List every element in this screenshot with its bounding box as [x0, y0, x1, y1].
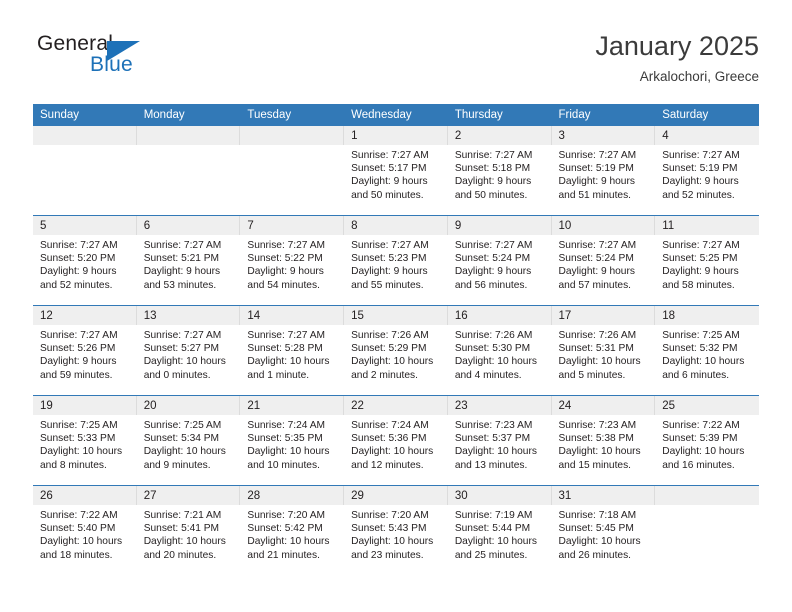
day-number: 19 — [33, 396, 137, 415]
calendar-day-cell[interactable]: 26Sunrise: 7:22 AMSunset: 5:40 PMDayligh… — [33, 486, 137, 576]
calendar-day-cell[interactable]: 14Sunrise: 7:27 AMSunset: 5:28 PMDayligh… — [240, 306, 344, 396]
calendar-day-cell[interactable]: 12Sunrise: 7:27 AMSunset: 5:26 PMDayligh… — [33, 306, 137, 396]
sunrise-time: Sunrise: 7:24 AM — [247, 419, 338, 432]
sunset-time: Sunset: 5:43 PM — [351, 522, 442, 535]
sunrise-time: Sunrise: 7:18 AM — [559, 509, 650, 522]
day-number: 2 — [448, 126, 552, 145]
sunset-time: Sunset: 5:37 PM — [455, 432, 546, 445]
day-number: 7 — [240, 216, 344, 235]
calendar-day-cell[interactable] — [137, 126, 241, 216]
sunset-time: Sunset: 5:44 PM — [455, 522, 546, 535]
sunset-time: Sunset: 5:27 PM — [144, 342, 235, 355]
sunrise-time: Sunrise: 7:26 AM — [455, 329, 546, 342]
calendar-day-cell[interactable]: 10Sunrise: 7:27 AMSunset: 5:24 PMDayligh… — [552, 216, 656, 306]
daylight-duration-line2: and 57 minutes. — [559, 279, 650, 292]
daylight-duration-line2: and 56 minutes. — [455, 279, 546, 292]
calendar-day-cell[interactable]: 7Sunrise: 7:27 AMSunset: 5:22 PMDaylight… — [240, 216, 344, 306]
calendar-day-cell[interactable]: 31Sunrise: 7:18 AMSunset: 5:45 PMDayligh… — [552, 486, 656, 576]
daylight-duration-line1: Daylight: 9 hours — [144, 265, 235, 278]
daylight-duration-line1: Daylight: 9 hours — [559, 265, 650, 278]
calendar-day-cell[interactable]: 3Sunrise: 7:27 AMSunset: 5:19 PMDaylight… — [552, 126, 656, 216]
day-details: Sunrise: 7:20 AMSunset: 5:43 PMDaylight:… — [344, 505, 448, 562]
sunrise-time: Sunrise: 7:27 AM — [144, 329, 235, 342]
day-number: 26 — [33, 486, 137, 505]
daylight-duration-line2: and 10 minutes. — [247, 459, 338, 472]
sunset-time: Sunset: 5:41 PM — [144, 522, 235, 535]
weekday-header-saturday: Saturday — [655, 104, 759, 126]
day-number: 23 — [448, 396, 552, 415]
day-number: 30 — [448, 486, 552, 505]
daylight-duration-line1: Daylight: 9 hours — [455, 265, 546, 278]
calendar-week-row: 5Sunrise: 7:27 AMSunset: 5:20 PMDaylight… — [33, 216, 759, 306]
calendar-day-cell[interactable]: 4Sunrise: 7:27 AMSunset: 5:19 PMDaylight… — [655, 126, 759, 216]
daylight-duration-line2: and 59 minutes. — [40, 369, 131, 382]
sunset-time: Sunset: 5:30 PM — [455, 342, 546, 355]
sunset-time: Sunset: 5:23 PM — [351, 252, 442, 265]
daylight-duration-line1: Daylight: 10 hours — [559, 355, 650, 368]
weekday-header-wednesday: Wednesday — [344, 104, 448, 126]
day-details: Sunrise: 7:27 AMSunset: 5:17 PMDaylight:… — [344, 145, 448, 202]
daylight-duration-line1: Daylight: 9 hours — [40, 355, 131, 368]
day-details: Sunrise: 7:27 AMSunset: 5:26 PMDaylight:… — [33, 325, 137, 382]
day-details: Sunrise: 7:24 AMSunset: 5:36 PMDaylight:… — [344, 415, 448, 472]
day-number: 5 — [33, 216, 137, 235]
daylight-duration-line2: and 18 minutes. — [40, 549, 131, 562]
daylight-duration-line1: Daylight: 10 hours — [455, 445, 546, 458]
daylight-duration-line2: and 51 minutes. — [559, 189, 650, 202]
daylight-duration-line1: Daylight: 10 hours — [351, 445, 442, 458]
calendar-day-cell[interactable]: 25Sunrise: 7:22 AMSunset: 5:39 PMDayligh… — [655, 396, 759, 486]
day-details: Sunrise: 7:27 AMSunset: 5:20 PMDaylight:… — [33, 235, 137, 292]
day-number: 15 — [344, 306, 448, 325]
daylight-duration-line2: and 52 minutes. — [662, 189, 753, 202]
sunset-time: Sunset: 5:29 PM — [351, 342, 442, 355]
calendar-day-cell[interactable]: 16Sunrise: 7:26 AMSunset: 5:30 PMDayligh… — [448, 306, 552, 396]
weekday-header-sunday: Sunday — [33, 104, 137, 126]
daylight-duration-line1: Daylight: 9 hours — [559, 175, 650, 188]
sunrise-time: Sunrise: 7:27 AM — [662, 149, 753, 162]
day-number: 25 — [655, 396, 759, 415]
daylight-duration-line2: and 25 minutes. — [455, 549, 546, 562]
day-number: 20 — [137, 396, 241, 415]
calendar-day-cell[interactable]: 18Sunrise: 7:25 AMSunset: 5:32 PMDayligh… — [655, 306, 759, 396]
day-details: Sunrise: 7:25 AMSunset: 5:34 PMDaylight:… — [137, 415, 241, 472]
sunset-time: Sunset: 5:17 PM — [351, 162, 442, 175]
calendar-day-cell[interactable]: 17Sunrise: 7:26 AMSunset: 5:31 PMDayligh… — [552, 306, 656, 396]
daylight-duration-line2: and 58 minutes. — [662, 279, 753, 292]
sunrise-time: Sunrise: 7:27 AM — [559, 149, 650, 162]
calendar-day-cell[interactable]: 8Sunrise: 7:27 AMSunset: 5:23 PMDaylight… — [344, 216, 448, 306]
calendar-day-cell[interactable]: 29Sunrise: 7:20 AMSunset: 5:43 PMDayligh… — [344, 486, 448, 576]
day-number: 13 — [137, 306, 241, 325]
location-subtitle: Arkalochori, Greece — [595, 69, 759, 85]
weekday-header-thursday: Thursday — [448, 104, 552, 126]
sunrise-time: Sunrise: 7:23 AM — [559, 419, 650, 432]
day-details: Sunrise: 7:27 AMSunset: 5:23 PMDaylight:… — [344, 235, 448, 292]
weekday-header-tuesday: Tuesday — [240, 104, 344, 126]
sunrise-time: Sunrise: 7:26 AM — [559, 329, 650, 342]
day-details: Sunrise: 7:27 AMSunset: 5:27 PMDaylight:… — [137, 325, 241, 382]
day-number: 14 — [240, 306, 344, 325]
daylight-duration-line2: and 15 minutes. — [559, 459, 650, 472]
daylight-duration-line2: and 52 minutes. — [40, 279, 131, 292]
day-number: 6 — [137, 216, 241, 235]
weekday-header-row: Sunday Monday Tuesday Wednesday Thursday… — [33, 104, 759, 126]
day-details: Sunrise: 7:18 AMSunset: 5:45 PMDaylight:… — [552, 505, 656, 562]
day-number: 29 — [344, 486, 448, 505]
calendar-day-cell[interactable]: 23Sunrise: 7:23 AMSunset: 5:37 PMDayligh… — [448, 396, 552, 486]
daylight-duration-line2: and 50 minutes. — [455, 189, 546, 202]
sunset-time: Sunset: 5:25 PM — [662, 252, 753, 265]
calendar-day-cell[interactable]: 13Sunrise: 7:27 AMSunset: 5:27 PMDayligh… — [137, 306, 241, 396]
sunset-time: Sunset: 5:21 PM — [144, 252, 235, 265]
day-details: Sunrise: 7:27 AMSunset: 5:18 PMDaylight:… — [448, 145, 552, 202]
sunrise-time: Sunrise: 7:27 AM — [144, 239, 235, 252]
sunset-time: Sunset: 5:19 PM — [662, 162, 753, 175]
day-number — [33, 126, 137, 145]
sunset-time: Sunset: 5:26 PM — [40, 342, 131, 355]
day-number: 10 — [552, 216, 656, 235]
calendar-day-cell[interactable]: 5Sunrise: 7:27 AMSunset: 5:20 PMDaylight… — [33, 216, 137, 306]
sunset-time: Sunset: 5:20 PM — [40, 252, 131, 265]
daylight-duration-line2: and 4 minutes. — [455, 369, 546, 382]
daylight-duration-line2: and 53 minutes. — [144, 279, 235, 292]
day-number: 18 — [655, 306, 759, 325]
day-number: 9 — [448, 216, 552, 235]
calendar-week-row: 1Sunrise: 7:27 AMSunset: 5:17 PMDaylight… — [33, 126, 759, 216]
daylight-duration-line1: Daylight: 10 hours — [247, 445, 338, 458]
sunset-time: Sunset: 5:38 PM — [559, 432, 650, 445]
sunrise-time: Sunrise: 7:23 AM — [455, 419, 546, 432]
sunset-time: Sunset: 5:36 PM — [351, 432, 442, 445]
daylight-duration-line2: and 23 minutes. — [351, 549, 442, 562]
day-details: Sunrise: 7:25 AMSunset: 5:32 PMDaylight:… — [655, 325, 759, 382]
day-details: Sunrise: 7:22 AMSunset: 5:40 PMDaylight:… — [33, 505, 137, 562]
daylight-duration-line1: Daylight: 10 hours — [455, 535, 546, 548]
sunrise-time: Sunrise: 7:27 AM — [662, 239, 753, 252]
day-details: Sunrise: 7:23 AMSunset: 5:38 PMDaylight:… — [552, 415, 656, 472]
daylight-duration-line1: Daylight: 10 hours — [662, 355, 753, 368]
daylight-duration-line1: Daylight: 10 hours — [247, 355, 338, 368]
sunset-time: Sunset: 5:35 PM — [247, 432, 338, 445]
day-number — [240, 126, 344, 145]
day-details: Sunrise: 7:27 AMSunset: 5:19 PMDaylight:… — [655, 145, 759, 202]
sunset-time: Sunset: 5:31 PM — [559, 342, 650, 355]
sunrise-time: Sunrise: 7:19 AM — [455, 509, 546, 522]
title-block: January 2025 Arkalochori, Greece — [595, 30, 759, 85]
calendar-day-cell[interactable]: 9Sunrise: 7:27 AMSunset: 5:24 PMDaylight… — [448, 216, 552, 306]
daylight-duration-line2: and 50 minutes. — [351, 189, 442, 202]
sunrise-time: Sunrise: 7:25 AM — [662, 329, 753, 342]
day-number: 4 — [655, 126, 759, 145]
daylight-duration-line2: and 5 minutes. — [559, 369, 650, 382]
calendar-day-cell[interactable]: 21Sunrise: 7:24 AMSunset: 5:35 PMDayligh… — [240, 396, 344, 486]
daylight-duration-line1: Daylight: 10 hours — [247, 535, 338, 548]
weekday-header-monday: Monday — [137, 104, 241, 126]
daylight-duration-line2: and 1 minute. — [247, 369, 338, 382]
day-number — [655, 486, 759, 505]
calendar-day-cell[interactable]: 30Sunrise: 7:19 AMSunset: 5:44 PMDayligh… — [448, 486, 552, 576]
daylight-duration-line1: Daylight: 9 hours — [662, 265, 753, 278]
day-number — [137, 126, 241, 145]
calendar-day-cell[interactable] — [33, 126, 137, 216]
calendar-body: 1Sunrise: 7:27 AMSunset: 5:17 PMDaylight… — [33, 126, 759, 575]
daylight-duration-line2: and 26 minutes. — [559, 549, 650, 562]
day-number: 16 — [448, 306, 552, 325]
sunrise-time: Sunrise: 7:25 AM — [144, 419, 235, 432]
daylight-duration-line1: Daylight: 10 hours — [144, 355, 235, 368]
daylight-duration-line2: and 6 minutes. — [662, 369, 753, 382]
day-number: 1 — [344, 126, 448, 145]
page-header: General Blue January 2025 Arkalochori, G… — [33, 30, 759, 98]
daylight-duration-line1: Daylight: 10 hours — [40, 535, 131, 548]
daylight-duration-line2: and 12 minutes. — [351, 459, 442, 472]
sunrise-time: Sunrise: 7:21 AM — [144, 509, 235, 522]
daylight-duration-line1: Daylight: 10 hours — [455, 355, 546, 368]
daylight-duration-line1: Daylight: 9 hours — [247, 265, 338, 278]
calendar-page: General Blue January 2025 Arkalochori, G… — [0, 0, 792, 612]
sunset-time: Sunset: 5:40 PM — [40, 522, 131, 535]
calendar-week-row: 19Sunrise: 7:25 AMSunset: 5:33 PMDayligh… — [33, 396, 759, 486]
sunset-time: Sunset: 5:22 PM — [247, 252, 338, 265]
daylight-duration-line2: and 13 minutes. — [455, 459, 546, 472]
daylight-duration-line1: Daylight: 10 hours — [40, 445, 131, 458]
day-details: Sunrise: 7:20 AMSunset: 5:42 PMDaylight:… — [240, 505, 344, 562]
sunrise-time: Sunrise: 7:24 AM — [351, 419, 442, 432]
daylight-duration-line1: Daylight: 10 hours — [662, 445, 753, 458]
calendar-day-cell[interactable]: 19Sunrise: 7:25 AMSunset: 5:33 PMDayligh… — [33, 396, 137, 486]
daylight-duration-line1: Daylight: 10 hours — [559, 535, 650, 548]
calendar-day-cell[interactable]: 6Sunrise: 7:27 AMSunset: 5:21 PMDaylight… — [137, 216, 241, 306]
sunrise-time: Sunrise: 7:27 AM — [247, 239, 338, 252]
daylight-duration-line2: and 54 minutes. — [247, 279, 338, 292]
day-details: Sunrise: 7:27 AMSunset: 5:28 PMDaylight:… — [240, 325, 344, 382]
day-details: Sunrise: 7:27 AMSunset: 5:21 PMDaylight:… — [137, 235, 241, 292]
day-details: Sunrise: 7:27 AMSunset: 5:24 PMDaylight:… — [552, 235, 656, 292]
day-details: Sunrise: 7:27 AMSunset: 5:19 PMDaylight:… — [552, 145, 656, 202]
day-number: 12 — [33, 306, 137, 325]
calendar-day-cell[interactable] — [240, 126, 344, 216]
daylight-duration-line1: Daylight: 10 hours — [351, 535, 442, 548]
calendar-day-cell[interactable]: 11Sunrise: 7:27 AMSunset: 5:25 PMDayligh… — [655, 216, 759, 306]
sunrise-time: Sunrise: 7:27 AM — [40, 239, 131, 252]
daylight-duration-line1: Daylight: 9 hours — [40, 265, 131, 278]
calendar-day-cell[interactable]: 20Sunrise: 7:25 AMSunset: 5:34 PMDayligh… — [137, 396, 241, 486]
day-details: Sunrise: 7:21 AMSunset: 5:41 PMDaylight:… — [137, 505, 241, 562]
daylight-duration-line1: Daylight: 10 hours — [559, 445, 650, 458]
day-number: 3 — [552, 126, 656, 145]
day-details: Sunrise: 7:25 AMSunset: 5:33 PMDaylight:… — [33, 415, 137, 472]
calendar-day-cell[interactable]: 1Sunrise: 7:27 AMSunset: 5:17 PMDaylight… — [344, 126, 448, 216]
sunrise-time: Sunrise: 7:27 AM — [40, 329, 131, 342]
daylight-duration-line2: and 16 minutes. — [662, 459, 753, 472]
sunrise-time: Sunrise: 7:20 AM — [351, 509, 442, 522]
sunset-time: Sunset: 5:42 PM — [247, 522, 338, 535]
calendar-day-cell[interactable]: 2Sunrise: 7:27 AMSunset: 5:18 PMDaylight… — [448, 126, 552, 216]
sunset-time: Sunset: 5:33 PM — [40, 432, 131, 445]
sunset-time: Sunset: 5:39 PM — [662, 432, 753, 445]
sunrise-time: Sunrise: 7:27 AM — [351, 239, 442, 252]
day-number: 17 — [552, 306, 656, 325]
sunrise-time: Sunrise: 7:25 AM — [40, 419, 131, 432]
daylight-duration-line2: and 20 minutes. — [144, 549, 235, 562]
day-number: 27 — [137, 486, 241, 505]
sunset-time: Sunset: 5:18 PM — [455, 162, 546, 175]
sunrise-time: Sunrise: 7:27 AM — [455, 149, 546, 162]
sunset-time: Sunset: 5:24 PM — [455, 252, 546, 265]
sunrise-time: Sunrise: 7:20 AM — [247, 509, 338, 522]
day-number: 21 — [240, 396, 344, 415]
sunrise-time: Sunrise: 7:22 AM — [40, 509, 131, 522]
daylight-duration-line2: and 8 minutes. — [40, 459, 131, 472]
general-blue-logo[interactable]: General Blue — [33, 32, 233, 88]
day-details: Sunrise: 7:26 AMSunset: 5:31 PMDaylight:… — [552, 325, 656, 382]
day-details: Sunrise: 7:27 AMSunset: 5:22 PMDaylight:… — [240, 235, 344, 292]
calendar-week-row: 12Sunrise: 7:27 AMSunset: 5:26 PMDayligh… — [33, 306, 759, 396]
daylight-duration-line1: Daylight: 10 hours — [351, 355, 442, 368]
day-number: 8 — [344, 216, 448, 235]
sunset-time: Sunset: 5:34 PM — [144, 432, 235, 445]
day-details: Sunrise: 7:22 AMSunset: 5:39 PMDaylight:… — [655, 415, 759, 472]
calendar-day-cell[interactable]: 22Sunrise: 7:24 AMSunset: 5:36 PMDayligh… — [344, 396, 448, 486]
weekday-header-friday: Friday — [552, 104, 656, 126]
daylight-duration-line2: and 2 minutes. — [351, 369, 442, 382]
day-number: 28 — [240, 486, 344, 505]
daylight-duration-line2: and 0 minutes. — [144, 369, 235, 382]
daylight-duration-line1: Daylight: 9 hours — [351, 175, 442, 188]
logo-text-blue: Blue — [90, 53, 133, 77]
day-details: Sunrise: 7:19 AMSunset: 5:44 PMDaylight:… — [448, 505, 552, 562]
day-number: 24 — [552, 396, 656, 415]
daylight-duration-line1: Daylight: 9 hours — [455, 175, 546, 188]
daylight-duration-line1: Daylight: 10 hours — [144, 535, 235, 548]
day-number: 31 — [552, 486, 656, 505]
day-details: Sunrise: 7:26 AMSunset: 5:30 PMDaylight:… — [448, 325, 552, 382]
page-title: January 2025 — [595, 30, 759, 62]
sunset-time: Sunset: 5:19 PM — [559, 162, 650, 175]
calendar-day-cell[interactable]: 24Sunrise: 7:23 AMSunset: 5:38 PMDayligh… — [552, 396, 656, 486]
sunset-time: Sunset: 5:28 PM — [247, 342, 338, 355]
daylight-duration-line2: and 9 minutes. — [144, 459, 235, 472]
daylight-duration-line1: Daylight: 9 hours — [662, 175, 753, 188]
sunset-time: Sunset: 5:32 PM — [662, 342, 753, 355]
daylight-duration-line1: Daylight: 10 hours — [144, 445, 235, 458]
day-details: Sunrise: 7:23 AMSunset: 5:37 PMDaylight:… — [448, 415, 552, 472]
day-details: Sunrise: 7:24 AMSunset: 5:35 PMDaylight:… — [240, 415, 344, 472]
sunrise-time: Sunrise: 7:22 AM — [662, 419, 753, 432]
sunrise-time: Sunrise: 7:27 AM — [559, 239, 650, 252]
daylight-duration-line2: and 55 minutes. — [351, 279, 442, 292]
sunset-time: Sunset: 5:24 PM — [559, 252, 650, 265]
sunrise-time: Sunrise: 7:26 AM — [351, 329, 442, 342]
calendar-day-cell[interactable] — [655, 486, 759, 576]
sunset-time: Sunset: 5:45 PM — [559, 522, 650, 535]
day-details: Sunrise: 7:27 AMSunset: 5:24 PMDaylight:… — [448, 235, 552, 292]
day-details: Sunrise: 7:27 AMSunset: 5:25 PMDaylight:… — [655, 235, 759, 292]
sunrise-time: Sunrise: 7:27 AM — [351, 149, 442, 162]
day-number: 11 — [655, 216, 759, 235]
daylight-duration-line2: and 21 minutes. — [247, 549, 338, 562]
calendar-day-cell[interactable]: 15Sunrise: 7:26 AMSunset: 5:29 PMDayligh… — [344, 306, 448, 396]
day-details: Sunrise: 7:26 AMSunset: 5:29 PMDaylight:… — [344, 325, 448, 382]
sunrise-time: Sunrise: 7:27 AM — [455, 239, 546, 252]
calendar-week-row: 26Sunrise: 7:22 AMSunset: 5:40 PMDayligh… — [33, 486, 759, 576]
sunrise-time: Sunrise: 7:27 AM — [247, 329, 338, 342]
calendar-table: Sunday Monday Tuesday Wednesday Thursday… — [33, 104, 759, 575]
daylight-duration-line1: Daylight: 9 hours — [351, 265, 442, 278]
calendar-day-cell[interactable]: 28Sunrise: 7:20 AMSunset: 5:42 PMDayligh… — [240, 486, 344, 576]
calendar-day-cell[interactable]: 27Sunrise: 7:21 AMSunset: 5:41 PMDayligh… — [137, 486, 241, 576]
day-number: 22 — [344, 396, 448, 415]
